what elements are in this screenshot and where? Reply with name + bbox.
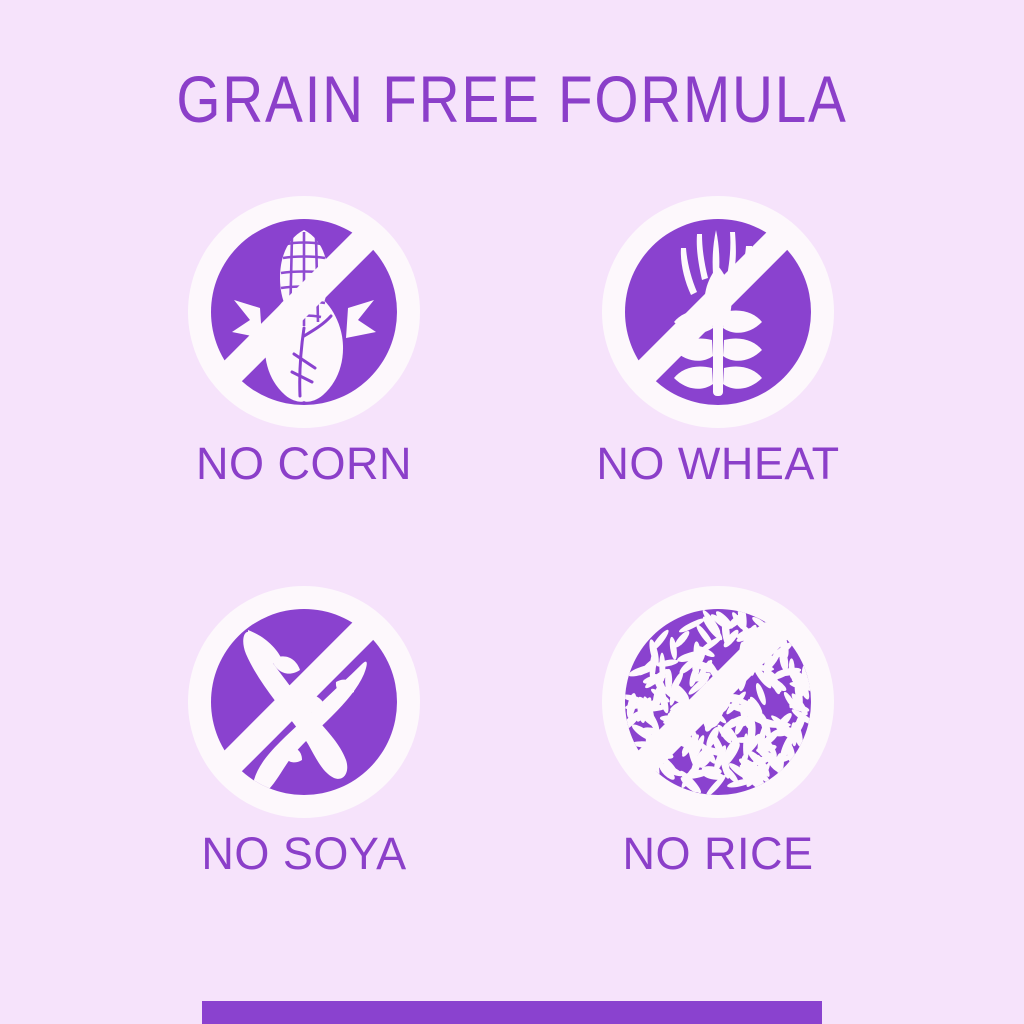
no-corn-icon: [188, 196, 420, 428]
claim-item-corn: NO CORN: [98, 196, 510, 544]
claim-item-soya: NO SOYA: [98, 586, 510, 934]
claim-label-corn: NO CORN: [98, 438, 510, 490]
no-soya-icon: [188, 586, 420, 818]
grain-free-formula-panel: GRAIN FREE FORMULA: [0, 0, 1024, 1024]
claim-item-rice: NO RICE: [512, 586, 924, 934]
no-wheat-icon: [602, 196, 834, 428]
footer-accent-bar: [202, 1001, 822, 1024]
claim-item-wheat: NO WHEAT: [512, 196, 924, 544]
claim-label-soya: NO SOYA: [98, 828, 510, 880]
claims-grid: NO CORN: [0, 196, 1024, 936]
claim-label-wheat: NO WHEAT: [512, 438, 924, 490]
no-rice-icon: [602, 586, 834, 818]
claim-label-rice: NO RICE: [512, 828, 924, 880]
page-title: GRAIN FREE FORMULA: [72, 62, 953, 136]
